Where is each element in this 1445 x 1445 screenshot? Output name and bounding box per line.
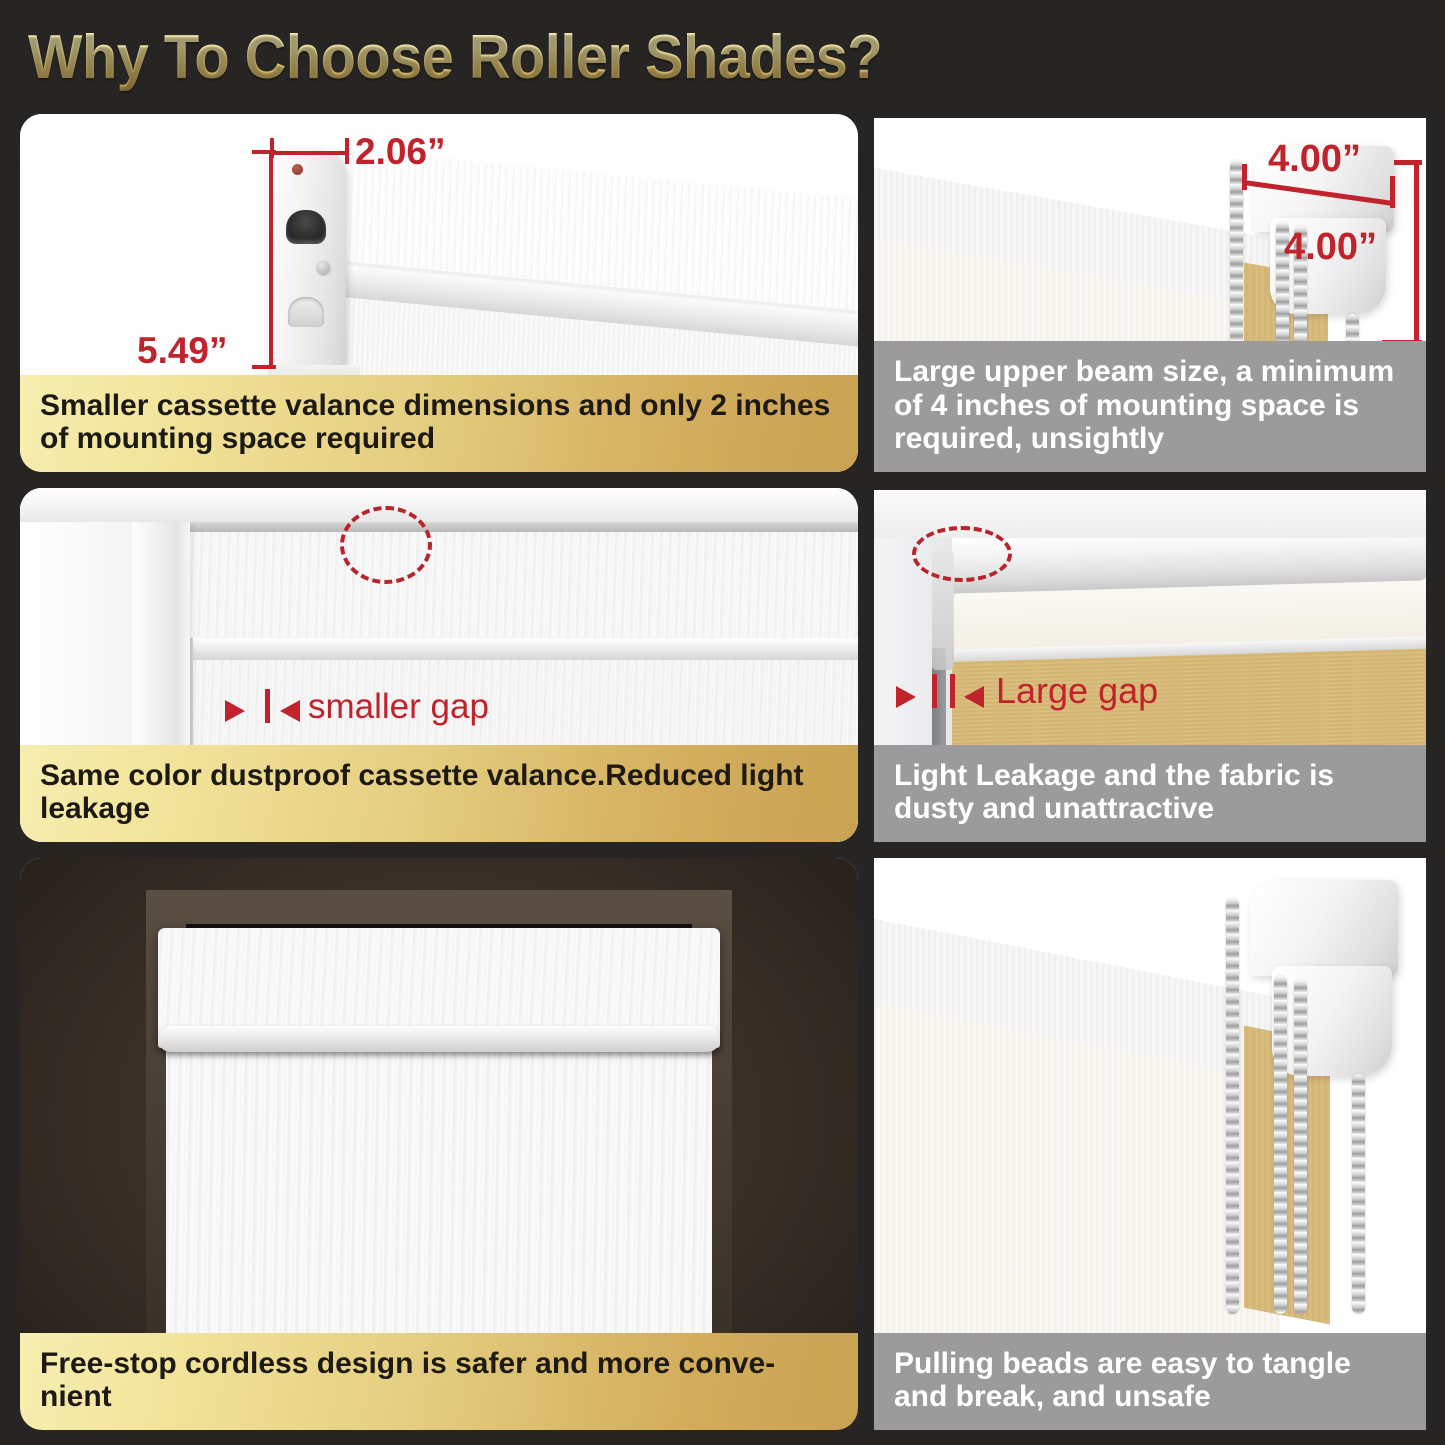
panel-3-caption: Same color dustproof cassette valance.Re… xyxy=(20,745,858,842)
shade-fabric-upper xyxy=(190,532,858,638)
window-head-trim xyxy=(20,488,858,522)
gap-callout-label: Large gap xyxy=(996,670,1158,712)
panel-large-upper-beam[interactable]: 4.00” 4.00” Large upper beam size, a min… xyxy=(874,118,1426,472)
panel-4-caption: Light Leakage and the fabric is dusty an… xyxy=(874,745,1426,842)
bead-chain-4 xyxy=(1352,1074,1365,1314)
valance-lower-bar xyxy=(158,1026,720,1052)
gap-marker-bar xyxy=(265,689,270,723)
roller-bracket-upper xyxy=(1250,880,1398,976)
gap-arrow-right xyxy=(964,686,984,708)
gap-marker-bar-1 xyxy=(932,674,937,708)
beam-width-tick-right xyxy=(1390,176,1395,208)
panel-pulling-beads[interactable]: Pulling beads are easy to tangle and bre… xyxy=(874,858,1426,1430)
panel-smaller-cassette[interactable]: 2.06” 5.49” Smaller cassette valance dim… xyxy=(20,114,858,472)
bracket-screw xyxy=(317,261,330,274)
comparison-grid: 2.06” 5.49” Smaller cassette valance dim… xyxy=(0,0,1445,1445)
roller-bracket-lower xyxy=(1272,966,1392,1076)
gap-arrow-right xyxy=(280,700,300,722)
gap-arrow-left xyxy=(896,686,916,708)
beam-height-label: 4.00” xyxy=(1284,226,1377,269)
beam-height-line xyxy=(1414,162,1419,344)
valance-bottom-bar xyxy=(188,638,858,660)
width-dimension-line xyxy=(272,151,348,155)
gap-callout-label: smaller gap xyxy=(308,687,489,727)
gap-highlight-circle xyxy=(340,506,432,584)
bead-chain-2 xyxy=(1274,976,1287,1314)
height-dimension-line xyxy=(269,151,273,369)
panel-5-caption: Free-stop cordless design is safer and m… xyxy=(20,1333,858,1430)
height-dimension-tick-bottom xyxy=(252,365,276,369)
bracket-slot-lower xyxy=(288,297,324,327)
bead-chain-1 xyxy=(1226,898,1239,1314)
roller-shade-fabric xyxy=(166,1050,712,1368)
gap-marker-bar-2 xyxy=(950,674,955,708)
panel-light-leakage[interactable]: Large gap Light Leakage and the fabric i… xyxy=(874,490,1426,842)
panel-1-caption: Smaller cassette valance dimensions and … xyxy=(20,375,858,472)
valance-end-bracket xyxy=(268,150,346,368)
height-dimension-tick-top xyxy=(252,150,276,154)
width-dimension-tick-right xyxy=(345,138,349,164)
gap-highlight-circle xyxy=(912,526,1012,582)
beam-width-label: 4.00” xyxy=(1268,138,1361,181)
valance-top-rail xyxy=(188,522,858,532)
gap-arrow-left xyxy=(225,700,245,722)
beam-height-tick-top xyxy=(1394,160,1422,165)
bracket-screw-top xyxy=(292,164,303,175)
beam-width-tick-left xyxy=(1242,164,1247,190)
bead-chain-3 xyxy=(1294,980,1307,1314)
panel-dustproof-valance[interactable]: smaller gap Same color dustproof cassett… xyxy=(20,488,858,842)
panel-2-caption: Large upper beam size, a minimum of 4 in… xyxy=(874,341,1426,472)
height-dimension-label: 5.49” xyxy=(137,330,228,372)
panel-6-caption: Pulling beads are easy to tangle and bre… xyxy=(874,1333,1426,1430)
width-dimension-label: 2.06” xyxy=(355,131,446,173)
bracket-slot-upper xyxy=(286,210,326,244)
panel-cordless-design[interactable]: Free-stop cordless design is safer and m… xyxy=(20,858,858,1430)
